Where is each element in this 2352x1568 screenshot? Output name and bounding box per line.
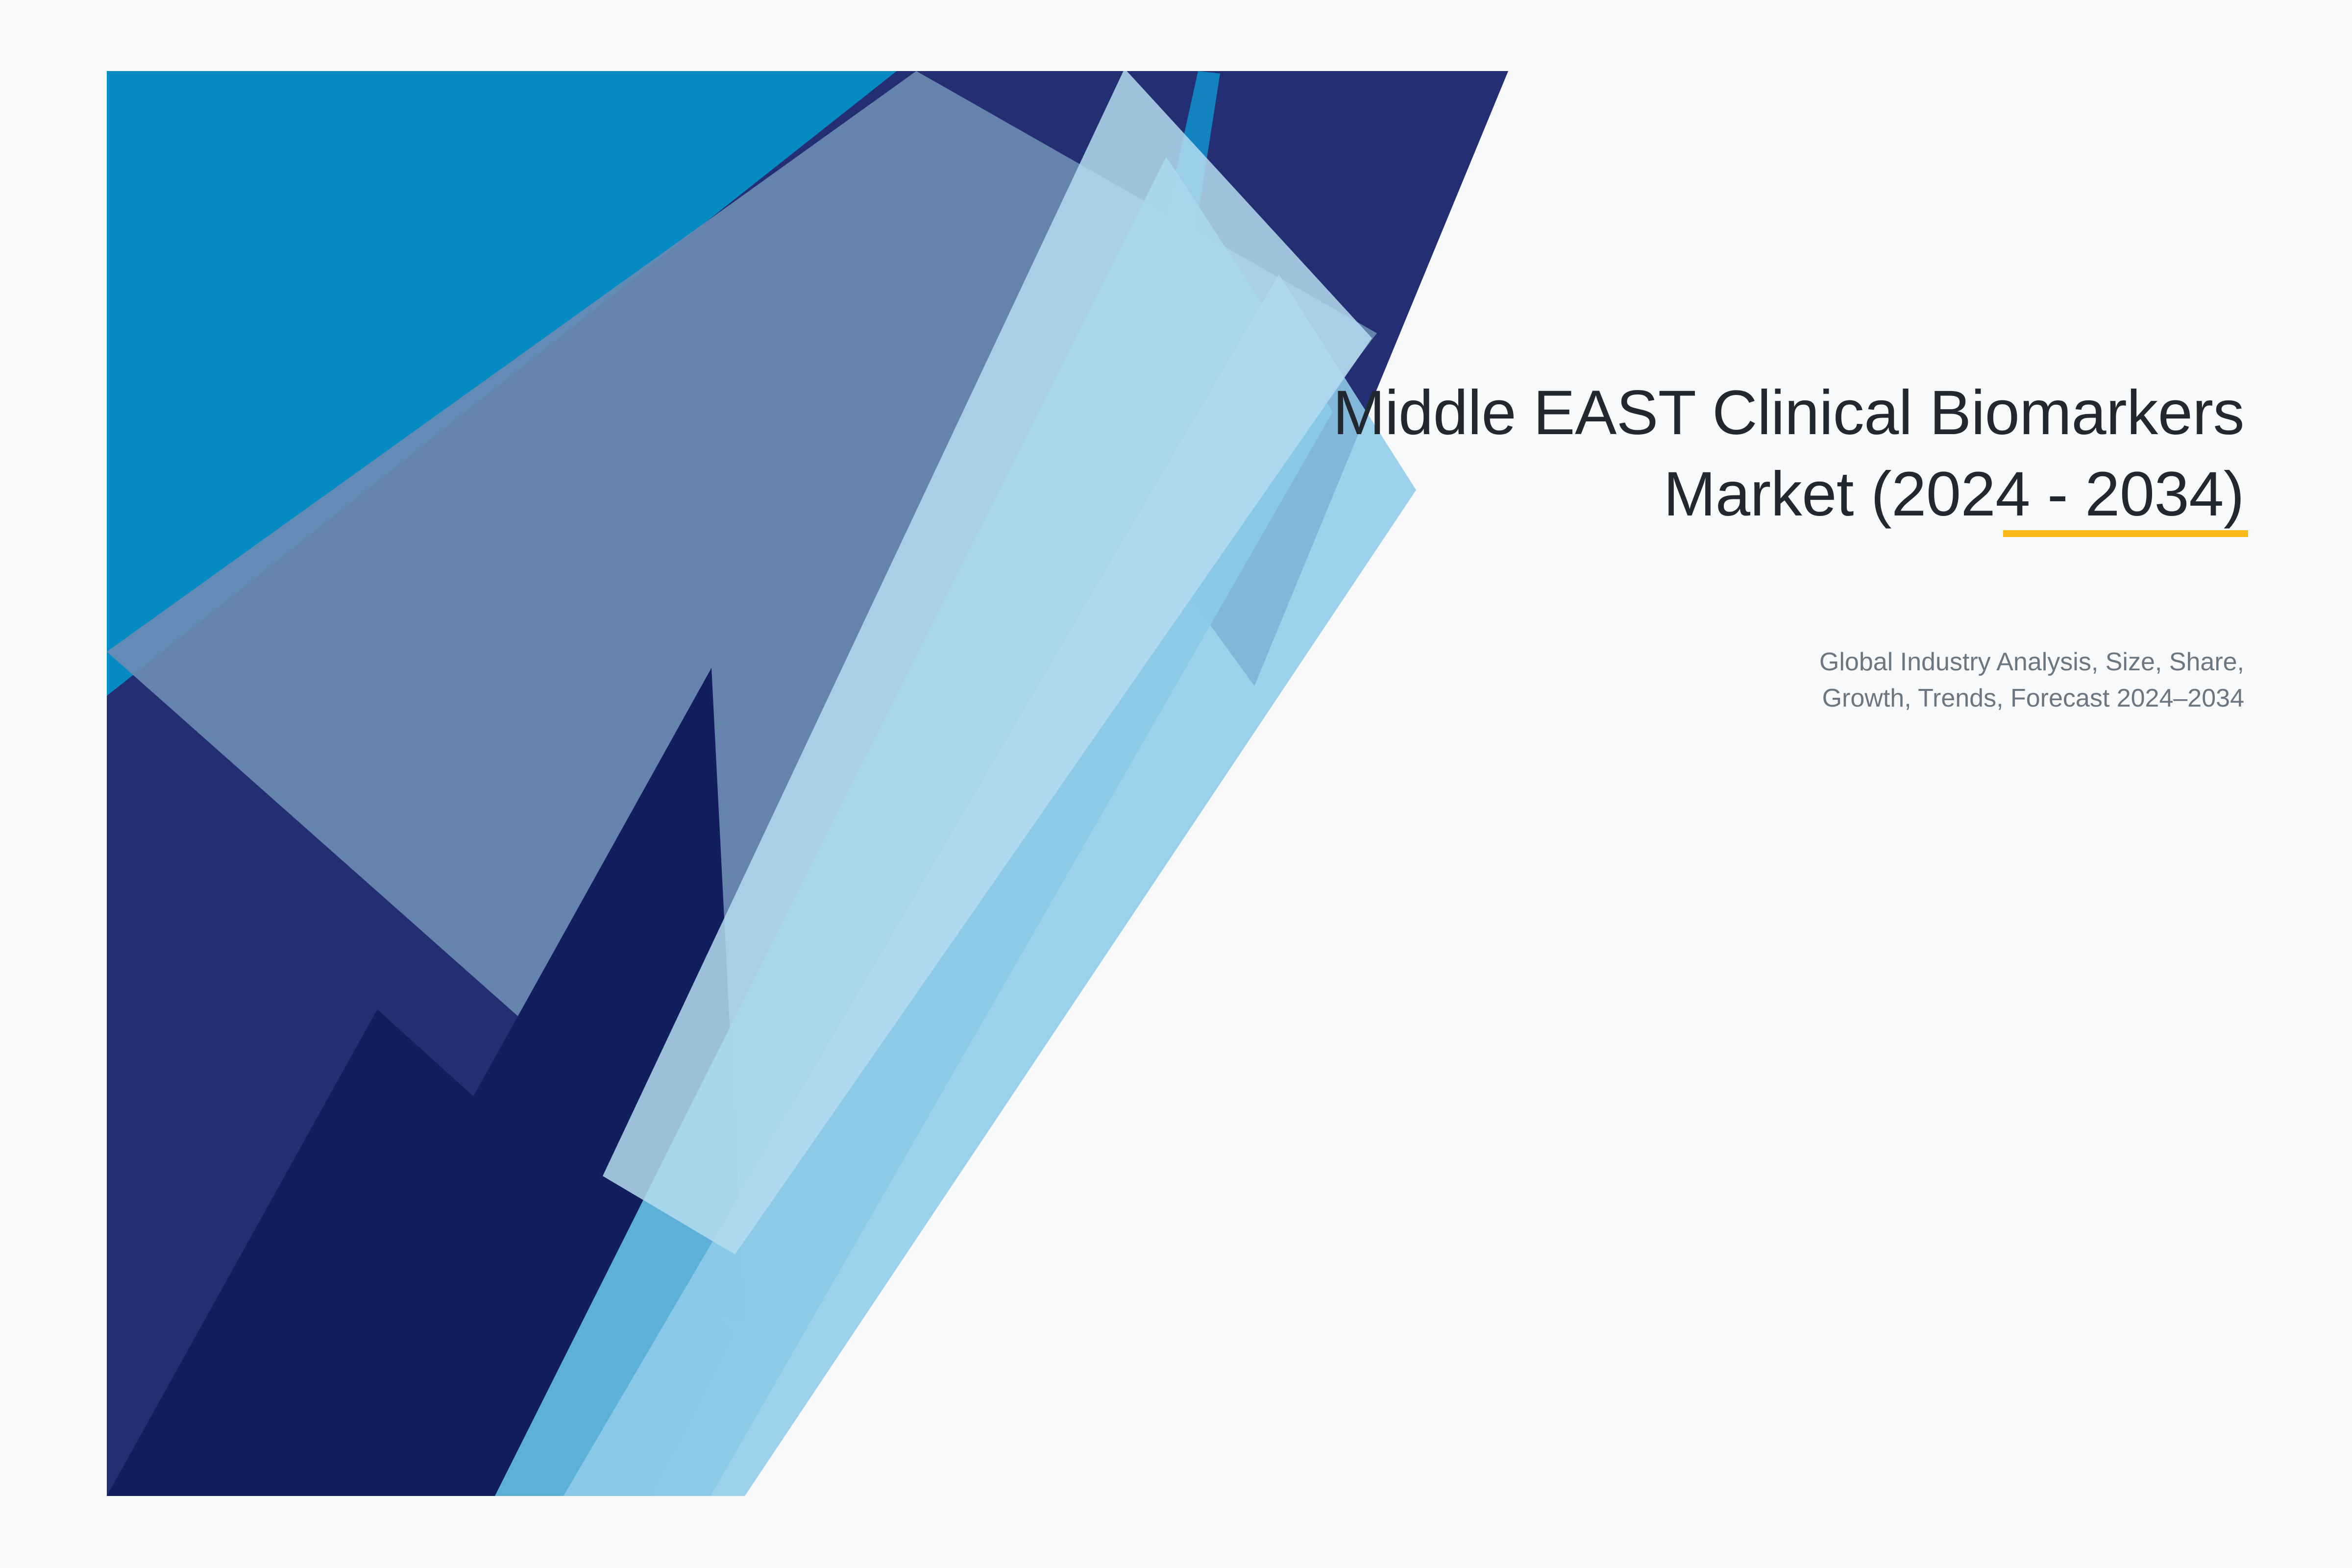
report-cover: Middle EAST Clinical Biomarkers Market (… xyxy=(0,0,2352,1568)
abstract-geometric-artwork xyxy=(0,0,2352,1568)
page-title: Middle EAST Clinical Biomarkers Market (… xyxy=(990,372,2244,536)
page-subtitle: Global Industry Analysis, Size, Share, G… xyxy=(1372,644,2244,717)
cover-text-block: Middle EAST Clinical Biomarkers Market (… xyxy=(990,372,2244,536)
